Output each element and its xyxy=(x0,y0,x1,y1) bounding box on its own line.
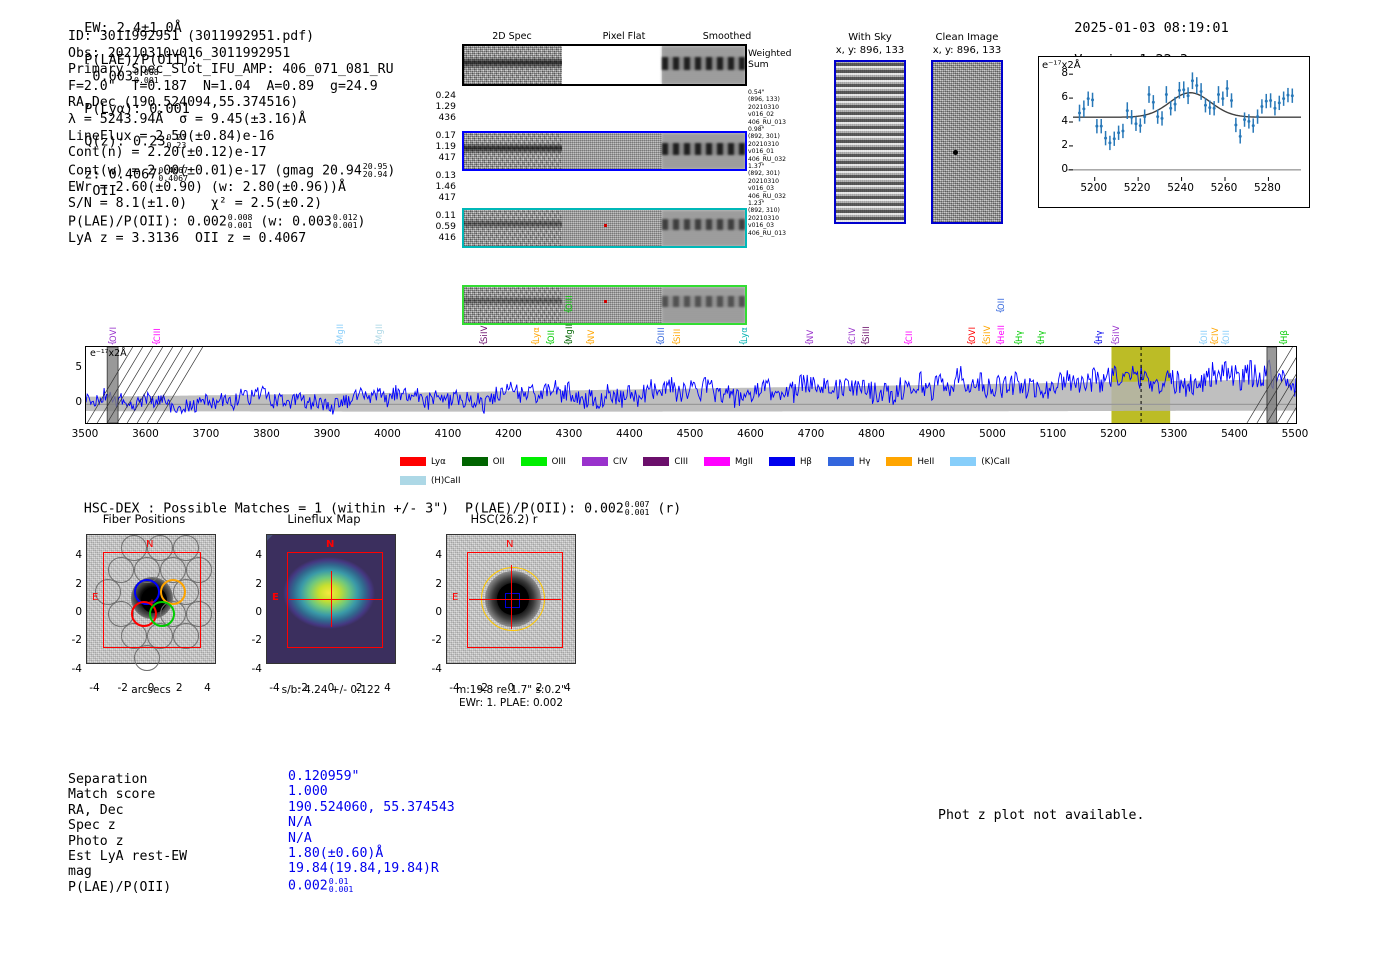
fiber-1-left-values: 0.24 1.29 436 xyxy=(414,90,456,123)
fiber-positions-axes: + N E xyxy=(86,534,216,664)
full-spectrum-xtick: 4700 xyxy=(787,428,835,440)
fiber-1-strip xyxy=(462,131,747,171)
legend-item: OIII xyxy=(521,457,566,467)
spec2d-panel-group: 2D Spec Pixel Flat Smoothed Weighted Sum… xyxy=(424,31,709,233)
hsc-r-title: HSC(26.2) r xyxy=(418,512,590,526)
lineflux-map-title: Lineflux Map xyxy=(238,512,410,526)
emission-line-brace: { xyxy=(564,340,574,346)
center-marker: + xyxy=(149,598,155,608)
line-fit-xtick: 5260 xyxy=(1208,182,1240,194)
legend-label: (K)CaII xyxy=(981,457,1010,467)
compass-north: N xyxy=(506,539,513,550)
detection-info-block: ID: 3011992951 (3011992951.pdf) Obs: 202… xyxy=(68,29,395,248)
full-spectrum-panel: OVI{CIII{MgII{MgII{SiIV{Lyα{OII{MgII{OII… xyxy=(0,272,1400,472)
emission-line-label: MgII xyxy=(564,312,574,342)
emission-line-brace: { xyxy=(546,340,556,346)
lineflux-map-ytick: -4 xyxy=(244,663,262,675)
hsc-r-ytick: 4 xyxy=(424,549,442,561)
spec2d-col-title-smoothed: Smoothed xyxy=(677,31,777,42)
emission-line-label: CIV xyxy=(847,312,857,342)
hscdex-plae-range: 0.0070.001 xyxy=(625,500,650,517)
fiber-4-meta: 1.23" (892, 310) 20210310 v016_03 406_RU… xyxy=(748,200,786,237)
row-label-separation: Separation xyxy=(68,772,147,787)
fiber-positions-panel: Fiber Positions + N E -4-4-2-2 xyxy=(58,512,230,526)
full-spectrum-xtick: 4300 xyxy=(545,428,593,440)
row-value-separation: 0.120959" xyxy=(288,769,359,784)
legend-item: Hβ xyxy=(769,457,812,467)
legend-item: (K)CaII xyxy=(950,457,1010,467)
legend-swatch xyxy=(521,457,547,466)
emission-line-label: SiIV xyxy=(479,312,489,342)
hsc-r-axes: N E xyxy=(446,534,576,664)
with-sky-coords: x, y: 896, 133 xyxy=(824,45,916,58)
fiber-3-meta: 1.37" (892, 301) 20210310 v016_03 406_RU… xyxy=(748,163,786,200)
legend-item: OII xyxy=(462,457,505,467)
info-line-obs: Obs: 20210310v016_3011992951 xyxy=(68,46,395,63)
compass-east: E xyxy=(452,592,458,603)
legend-label: Lyα xyxy=(431,457,446,467)
full-spectrum-xtick: 5500 xyxy=(1271,428,1319,440)
lineflux-map-axes: N E xyxy=(266,534,396,664)
emission-line-label: Hγ xyxy=(1094,312,1104,342)
full-spectrum-xtick: 4000 xyxy=(364,428,412,440)
emission-line-label: Lyα xyxy=(739,312,749,342)
emission-line-label: MgII xyxy=(374,312,384,342)
full-spectrum-axes xyxy=(85,346,1297,424)
full-spectrum-xtick: 3500 xyxy=(61,428,109,440)
emission-line-brace: { xyxy=(739,340,749,346)
row-value-match-score: 1.000 xyxy=(288,784,328,799)
emission-line-brace: { xyxy=(479,340,489,346)
row-label-spec-z: Spec z xyxy=(68,818,116,833)
compass-north: N xyxy=(146,539,153,550)
legend-label: Hβ xyxy=(800,457,812,467)
legend-item: MgII xyxy=(704,457,753,467)
info-line-cont-n: Cont(n) = 2.20(±0.12)e-17 xyxy=(68,145,395,162)
full-spectrum-svg xyxy=(86,347,1296,423)
full-spectrum-yunit: e⁻¹⁷x2Å xyxy=(90,348,127,359)
row-label-mag: mag xyxy=(68,864,92,879)
emission-line-label: OIII xyxy=(656,312,666,342)
legend-label: OIII xyxy=(552,457,566,467)
lineflux-map-ytick: 0 xyxy=(244,606,262,618)
emission-line-label: HeII xyxy=(996,312,1006,342)
line-fit-xtick: 5220 xyxy=(1121,182,1153,194)
compass-east: E xyxy=(92,592,98,603)
info-line-cont-w: Cont(w) = 2.00(±0.01)e-17 (gmag 20.9420.… xyxy=(68,162,395,180)
fiber-positions-xlabel: arcsecs xyxy=(86,684,216,697)
emission-line-label: OIII xyxy=(564,280,574,310)
emission-line-label: Hγ xyxy=(1036,312,1046,342)
row-value-spec-z: N/A xyxy=(288,815,312,830)
crosshair-vertical xyxy=(331,571,332,627)
emission-line-brace: { xyxy=(1111,340,1121,346)
fiber-positions-ytick: -4 xyxy=(64,663,82,675)
legend-swatch xyxy=(400,476,426,485)
compass-east: E xyxy=(272,592,279,603)
emission-line-brace: { xyxy=(586,340,596,346)
emission-line-brace: { xyxy=(564,308,574,314)
legend-swatch xyxy=(828,457,854,466)
lineflux-map-panel: Lineflux Map N E -4-4-2-2002244 s/b: 4.2… xyxy=(238,512,410,526)
emission-line-label: MgII xyxy=(335,312,345,342)
emission-line-label: OII xyxy=(1221,312,1231,342)
info-line-primary-spec: Primary Spec_Slot_IFU_AMP: 406_071_081_R… xyxy=(68,62,395,79)
emission-line-brace: { xyxy=(1199,340,1209,346)
hsc-r-xlabel: m:19.8 re:1.7" s:0.2" xyxy=(421,684,601,697)
row-value-plae-range: 0.010.001 xyxy=(329,877,354,894)
crosshair-horizontal xyxy=(289,599,383,600)
emission-line-brace: { xyxy=(805,340,815,346)
row-value-plae: 0.0020.010.001 xyxy=(288,877,353,894)
emission-line-brace: { xyxy=(1279,340,1289,346)
info-plae-w-range: 0.0120.001 xyxy=(333,213,358,230)
emission-line-brace: { xyxy=(108,340,118,346)
legend-label: OII xyxy=(493,457,505,467)
full-spectrum-xtick: 4100 xyxy=(424,428,472,440)
full-spectrum-xtick: 4500 xyxy=(666,428,714,440)
row-label-radec: RA, Dec xyxy=(68,803,124,818)
fiber-positions-ytick: 0 xyxy=(64,606,82,618)
emission-line-label: OVI xyxy=(108,312,118,342)
info-line-id: ID: 3011992951 (3011992951.pdf) xyxy=(68,29,395,46)
hsc-r-ytick: 2 xyxy=(424,578,442,590)
emission-line-brace: { xyxy=(531,340,541,346)
emission-line-brace: { xyxy=(861,340,871,346)
info-line-redshifts: LyA z = 3.3136 OII z = 0.4067 xyxy=(68,231,395,248)
full-spectrum-xtick: 5000 xyxy=(969,428,1017,440)
legend-swatch xyxy=(582,457,608,466)
emission-line-brace: { xyxy=(1210,340,1220,346)
hsc-r-ytick: 0 xyxy=(424,606,442,618)
legend-item: Hγ xyxy=(828,457,871,467)
emission-line-label: CIII xyxy=(152,312,162,342)
info-line-params: F=2.0" T=0.187 N=1.04 A=0.89 g=24.9 xyxy=(68,79,395,96)
hsc-r-xlabel2: EWr: 1. PLAE: 0.002 xyxy=(421,697,601,710)
fiber-1-meta: 0.54" (896, 133) 20210310 v016_02 406_RU… xyxy=(748,89,786,126)
line-fit-ytick: 4 xyxy=(1058,115,1068,127)
emission-line-legend: LyαOIIOIIICIVCIIIMgIIHβHγHeII(K)CaII(H)C… xyxy=(400,449,1040,487)
info-line-ewr: EWr = 2.60(±0.90) (w: 2.80(±0.96))Å xyxy=(68,180,395,197)
lineflux-map-xlabel: s/b: 4.24 +/- 0.122 xyxy=(246,684,416,697)
line-fit-xtick: 5240 xyxy=(1165,182,1197,194)
full-spectrum-xtick: 5400 xyxy=(1211,428,1259,440)
emission-line-brace: { xyxy=(672,340,682,346)
line-fit-xtick: 5200 xyxy=(1078,182,1110,194)
legend-item: CIV xyxy=(582,457,627,467)
spec2d-col-title-2dspec: 2D Spec xyxy=(462,31,562,42)
line-fit-ytick: 0 xyxy=(1058,163,1068,175)
legend-label: CIII xyxy=(674,457,688,467)
fiber-positions-ytick: -2 xyxy=(64,634,82,646)
fiber-outline xyxy=(134,645,160,671)
emission-line-brace: { xyxy=(996,308,1006,314)
weighted-sum-label: Weighted Sum xyxy=(748,48,792,70)
legend-swatch xyxy=(950,457,976,466)
info-line-plae: P(LAE)/P(OII): 0.0020.0080.001 (w: 0.003… xyxy=(68,213,395,231)
emission-line-brace: { xyxy=(1094,340,1104,346)
legend-swatch xyxy=(886,457,912,466)
full-spectrum-xtick: 3800 xyxy=(243,428,291,440)
fiber-2-strip xyxy=(462,208,747,248)
legend-label: CIV xyxy=(613,457,627,467)
fiber-2-left-values: 0.17 1.19 417 xyxy=(414,130,456,163)
row-value-photo-z: N/A xyxy=(288,831,312,846)
info-line-lambda-sigma: λ = 5243.94Å σ = 9.45(±3.16)Å xyxy=(68,112,395,129)
full-spectrum-xtick: 4400 xyxy=(606,428,654,440)
lineflux-map-ytick: 2 xyxy=(244,578,262,590)
legend-swatch xyxy=(643,457,669,466)
line-fit-chart: e⁻¹⁷x2Å 02468 52005220524052605280 xyxy=(1038,56,1310,208)
row-label-photo-z: Photo z xyxy=(68,834,124,849)
full-spectrum-xtick: 5100 xyxy=(1029,428,1077,440)
legend-item: HeII xyxy=(886,457,934,467)
emission-line-brace: { xyxy=(1221,340,1231,346)
info-plae-range: 0.0080.001 xyxy=(228,213,253,230)
with-sky-title: With Sky xyxy=(824,32,916,45)
fiber-4-left-values: 0.11 0.59 416 xyxy=(414,210,456,243)
row-label-plae: P(LAE)/P(OII) xyxy=(68,880,171,895)
with-sky-cutout: With Sky x, y: 896, 133 xyxy=(824,32,916,224)
emission-line-label: OII xyxy=(546,312,556,342)
info-gmag-range: 20.9520.94 xyxy=(363,162,388,179)
emission-line-label: Lyα xyxy=(531,312,541,342)
info-line-lineflux: LineFlux = 2.50(±0.84)e-16 xyxy=(68,129,395,146)
emission-line-label-layer: OVI{CIII{MgII{MgII{SiIV{Lyα{OII{MgII{OII… xyxy=(0,272,1400,346)
emission-line-label: OVI xyxy=(967,312,977,342)
legend-swatch xyxy=(769,457,795,466)
full-spectrum-xtick: 3700 xyxy=(182,428,230,440)
full-spectrum-ytick: 5 xyxy=(68,361,82,373)
emission-line-brace: { xyxy=(374,340,384,346)
full-spectrum-ytick: 0 xyxy=(68,396,82,408)
source-center-box xyxy=(505,593,520,608)
hsc-r-ytick: -2 xyxy=(424,634,442,646)
emission-line-brace: { xyxy=(996,340,1006,346)
clean-image-title: Clean Image xyxy=(921,32,1013,45)
emission-line-label: SiIV xyxy=(1111,312,1121,342)
legend-item: Lyα xyxy=(400,457,446,467)
fiber-positions-ytick: 4 xyxy=(64,549,82,561)
crosshair-horizontal xyxy=(469,599,561,600)
info-line-radec: RA,Dec (190.524094,55.374516) xyxy=(68,95,395,112)
line-fit-ytick: 6 xyxy=(1058,91,1068,103)
spec2d-col-title-pixelflat: Pixel Flat xyxy=(574,31,674,42)
emission-line-brace: { xyxy=(847,340,857,346)
line-fit-ytick: 2 xyxy=(1058,139,1068,151)
emission-line-label: SiIII xyxy=(861,312,871,342)
fiber-2-meta: 0.98" (892, 301) 20210310 v016_01 406_RU… xyxy=(748,126,786,163)
emission-line-label: OII xyxy=(1199,312,1209,342)
hsc-r-ytick: -4 xyxy=(424,663,442,675)
hsc-r-panel: HSC(26.2) r N E -4-4-2-2002244 m:19.8 re… xyxy=(418,512,590,526)
row-label-match-score: Match score xyxy=(68,787,155,802)
emission-line-brace: { xyxy=(656,340,666,346)
line-fit-ytick: 8 xyxy=(1058,67,1068,79)
lineflux-map-ytick: 4 xyxy=(244,549,262,561)
emission-line-label: SiIV xyxy=(982,312,992,342)
report-timestamp: 2025-01-03 08:19:01 xyxy=(1074,20,1228,36)
emission-line-label: OII xyxy=(996,280,1006,310)
full-spectrum-xtick: 5300 xyxy=(1150,428,1198,440)
line-fit-xtick: 5280 xyxy=(1251,182,1283,194)
emission-line-brace: { xyxy=(1036,340,1046,346)
full-spectrum-xtick: 4900 xyxy=(908,428,956,440)
clean-image-cutout: Clean Image x, y: 896, 133 xyxy=(921,32,1013,224)
full-spectrum-xtick: 4600 xyxy=(727,428,775,440)
emission-line-brace: { xyxy=(904,340,914,346)
emission-line-label: CII xyxy=(904,312,914,342)
legend-swatch xyxy=(462,457,488,466)
compass-north: N xyxy=(326,539,334,550)
weighted-sum-strip xyxy=(462,44,747,86)
emission-line-brace: { xyxy=(152,340,162,346)
emission-line-brace: { xyxy=(967,340,977,346)
info-line-sn-chi2: S/N = 8.1(±1.0) χ² = 2.5(±0.2) xyxy=(68,196,395,213)
row-value-mag: 19.84(19.84,19.84)R xyxy=(288,861,439,876)
row-label-est-lya-ew: Est LyA rest-EW xyxy=(68,849,187,864)
emission-line-brace: { xyxy=(982,340,992,346)
legend-label: HeII xyxy=(917,457,934,467)
clean-image-coords: x, y: 896, 133 xyxy=(921,45,1013,58)
emission-line-brace: { xyxy=(1014,340,1024,346)
emission-line-label: CIV xyxy=(1210,312,1220,342)
legend-swatch xyxy=(704,457,730,466)
lineflux-map-ytick: -2 xyxy=(244,634,262,646)
full-spectrum-xtick: 4200 xyxy=(485,428,533,440)
fiber-positions-ytick: 2 xyxy=(64,578,82,590)
emission-line-label: SiII xyxy=(672,312,682,342)
row-value-est-lya-ew: 1.80(±0.60)Å xyxy=(288,846,383,861)
legend-swatch xyxy=(400,457,426,466)
full-spectrum-xtick: 4800 xyxy=(848,428,896,440)
legend-item: CIII xyxy=(643,457,688,467)
fiber-3-left-values: 0.13 1.46 417 xyxy=(414,170,456,203)
fiber-positions-title: Fiber Positions xyxy=(58,512,230,526)
emission-line-label: Hγ xyxy=(1014,312,1024,342)
emission-line-label: Hβ xyxy=(1279,312,1289,342)
full-spectrum-xtick: 3900 xyxy=(303,428,351,440)
emission-line-brace: { xyxy=(335,340,345,346)
full-spectrum-xtick: 3600 xyxy=(122,428,170,440)
photz-unavailable-message: Phot z plot not available. xyxy=(938,808,1144,823)
emission-line-label: NV xyxy=(805,312,815,342)
crosshair-vertical xyxy=(511,565,512,629)
full-spectrum-xtick: 5200 xyxy=(1090,428,1138,440)
legend-label: Hγ xyxy=(859,457,871,467)
legend-label: MgII xyxy=(735,457,753,467)
row-value-radec: 190.524060, 55.374543 xyxy=(288,800,455,815)
emission-line-label: NV xyxy=(586,312,596,342)
